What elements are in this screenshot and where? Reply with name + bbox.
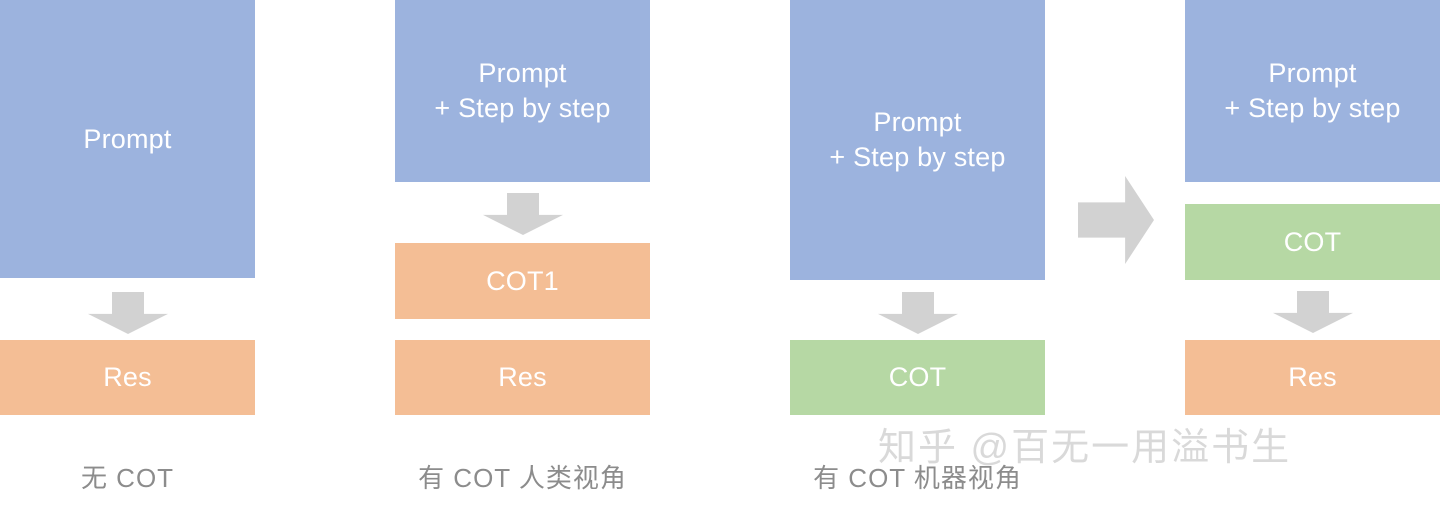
node-res-col4: Res [1185,340,1440,415]
arrow-down-icon-col3 [878,292,958,334]
node-cot1-col2: COT1 [395,243,650,319]
node-prompt-step-col2: Prompt + Step by step [395,0,650,182]
caption-col3: 有 COT 机器视角 [790,458,1045,495]
caption-col2: 有 COT 人类视角 [395,458,650,495]
arrow-down-icon-col1 [88,292,168,334]
arrow-down-icon-col4 [1273,291,1353,333]
node-cot-col3: COT [790,340,1045,415]
diagram-canvas: Prompt Res 无 COT Prompt + Step by step C… [0,0,1440,514]
caption-col1: 无 COT [0,458,255,495]
arrow-right-icon [1078,176,1154,264]
arrow-down-icon-col2 [483,193,563,235]
node-prompt-step-col4: Prompt + Step by step [1185,0,1440,182]
node-cot-col4: COT [1185,204,1440,280]
node-prompt-col1: Prompt [0,0,255,278]
node-res-col2: Res [395,340,650,415]
node-res-col1: Res [0,340,255,415]
node-prompt-step-col3: Prompt + Step by step [790,0,1045,280]
